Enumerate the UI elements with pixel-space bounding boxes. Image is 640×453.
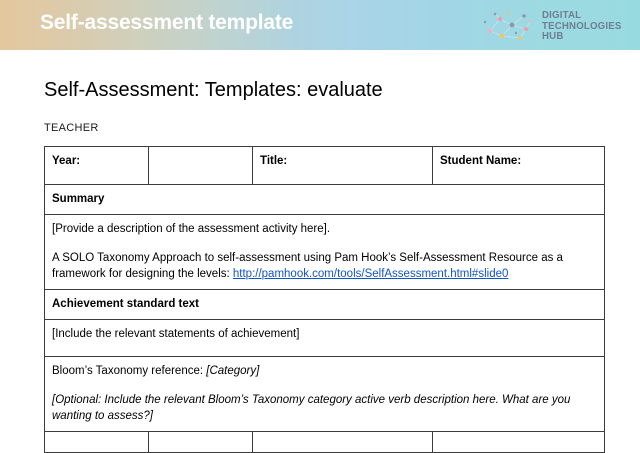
table-row-summary-heading: Summary — [45, 185, 605, 215]
achievement-standard-body-cell[interactable]: [Include the relevant statements of achi… — [45, 320, 605, 357]
table-row-bloom: Bloom’s Taxonomy reference: [Category] [… — [45, 357, 605, 432]
table-row-fields: Year: Title: Student Name: — [45, 147, 605, 185]
table-row-achievement-body: [Include the relevant statements of achi… — [45, 320, 605, 357]
summary-body-cell[interactable]: [Provide a description of the assessment… — [45, 215, 605, 290]
page-title: Self-Assessment: Templates: evaluate — [44, 79, 383, 102]
cell-title-label[interactable]: Title: — [253, 147, 433, 185]
bloom-reference-line: Bloom’s Taxonomy reference: [Category] — [52, 363, 597, 380]
table-row-partial-bottom — [45, 432, 605, 453]
site-logo: DIGITAL TECHNOLOGIES HUB — [482, 8, 628, 44]
summary-paragraph-1: [Provide a description of the assessment… — [52, 221, 597, 238]
network-nodes-graphic — [482, 9, 536, 43]
summary-heading: Summary — [45, 185, 605, 215]
audience-label: TEACHER — [44, 122, 99, 134]
partial-cell-2[interactable] — [149, 432, 253, 453]
bloom-optional-note: [Optional: Include the relevant Bloom’s … — [52, 392, 597, 425]
partial-cell-3[interactable] — [253, 432, 433, 453]
table-row-achievement-heading: Achievement standard text — [45, 290, 605, 320]
bloom-taxonomy-cell[interactable]: Bloom’s Taxonomy reference: [Category] [… — [45, 357, 605, 432]
partial-cell-4[interactable] — [433, 432, 605, 453]
partial-cell-1[interactable] — [45, 432, 149, 453]
cell-student-name-label[interactable]: Student Name: — [433, 147, 605, 185]
table-row-summary-body: [Provide a description of the assessment… — [45, 215, 605, 290]
logo-line-hub: HUB — [542, 31, 621, 42]
cell-year-value[interactable] — [149, 147, 253, 185]
bloom-reference-label: Bloom’s Taxonomy reference: — [52, 365, 206, 377]
logo-wordmark: DIGITAL TECHNOLOGIES HUB — [542, 10, 628, 42]
pamhook-resource-link[interactable]: http://pamhook.com/tools/SelfAssessment.… — [233, 268, 509, 280]
summary-paragraph-2: A SOLO Taxonomy Approach to self-assessm… — [52, 250, 597, 283]
page-banner: Self-assessment template — [0, 0, 640, 50]
bloom-reference-value: [Category] — [206, 365, 259, 377]
achievement-standard-heading: Achievement standard text — [45, 290, 605, 320]
cell-year-label[interactable]: Year: — [45, 147, 149, 185]
self-assessment-template-table: Year: Title: Student Name: Summary [Prov… — [44, 146, 605, 453]
banner-title: Self-assessment template — [40, 11, 293, 35]
